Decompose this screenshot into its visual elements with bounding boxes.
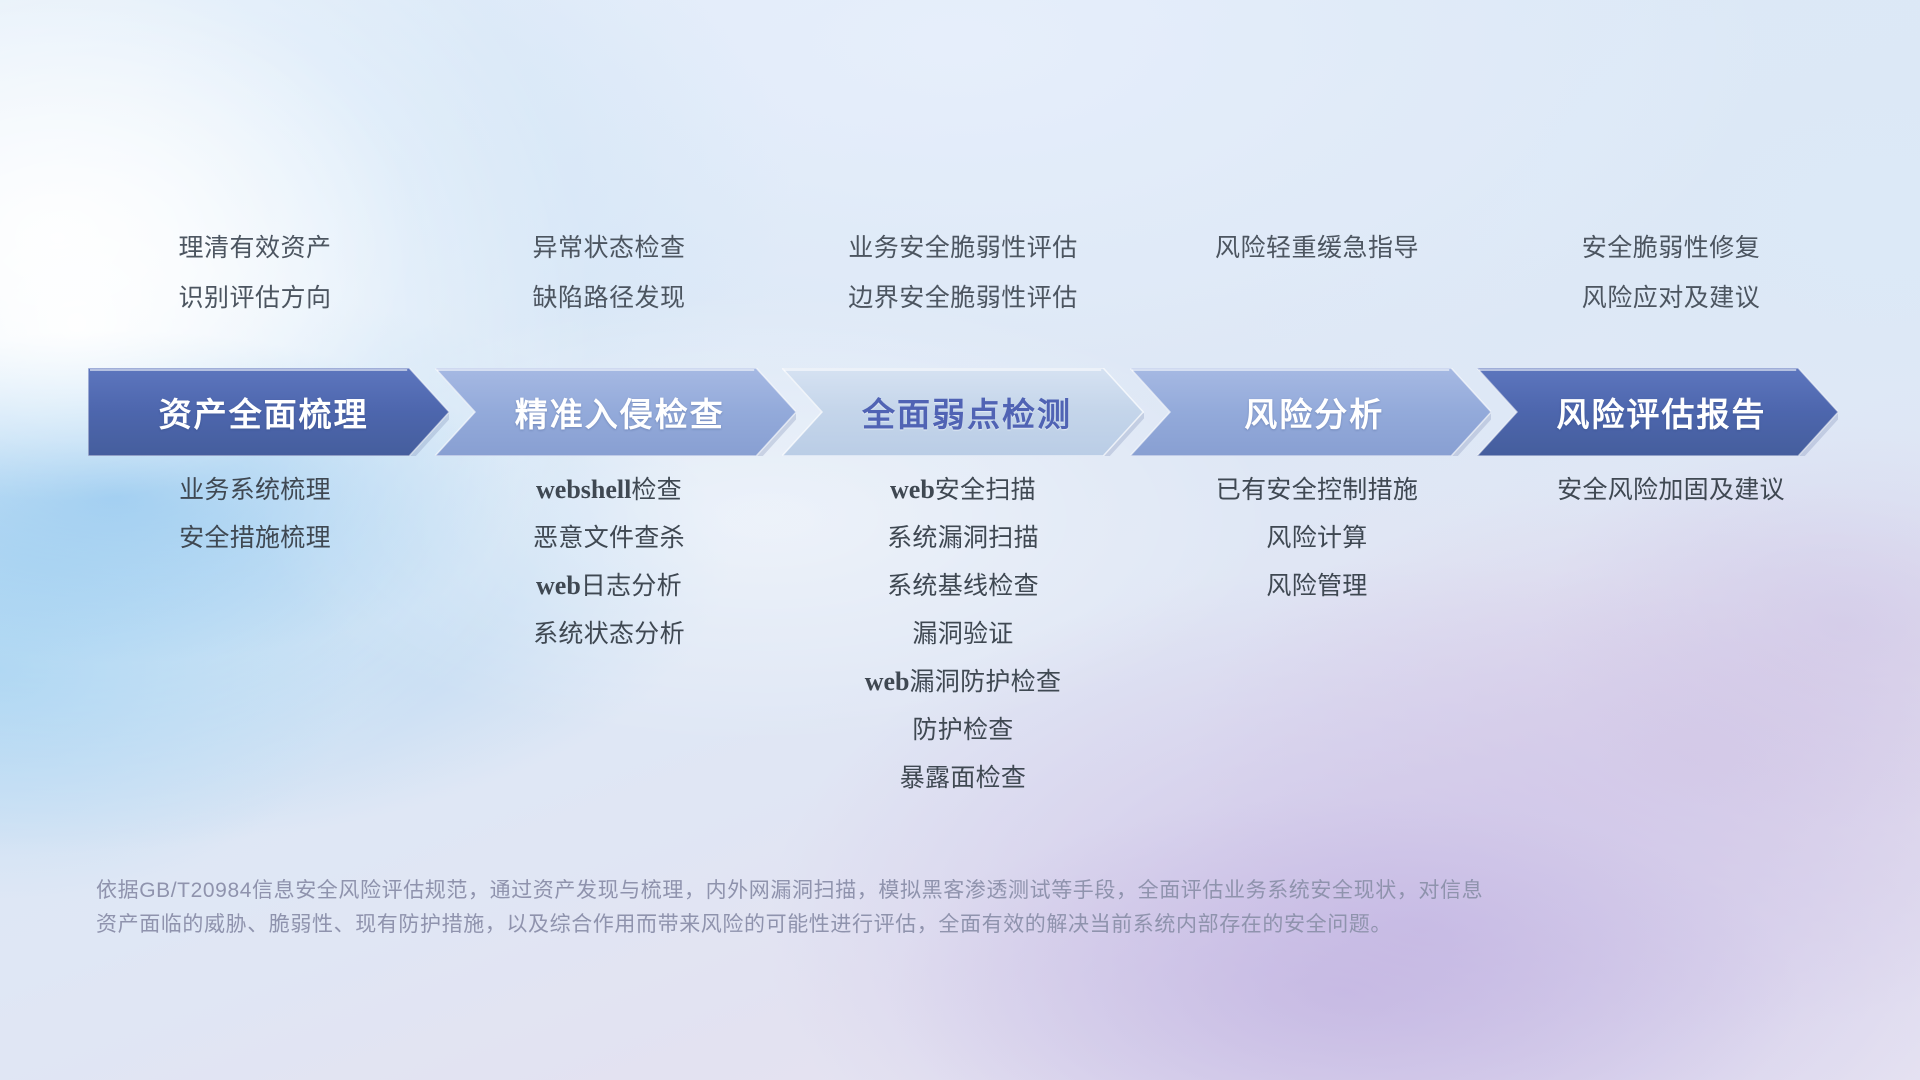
bottom-activities-row: 业务系统梳理安全措施梳理webshell检查恶意文件查杀web日志分析系统状态分… (78, 470, 1848, 794)
activity-term-zh: 暴露面检查 (900, 764, 1027, 792)
activity-term-zh: 风险管理 (1266, 572, 1367, 600)
top-outcome-item: 风险应对及建议 (1582, 278, 1761, 314)
activity-term-zh: 检查 (631, 476, 682, 504)
top-outcome-item: 理清有效资产 (178, 228, 331, 264)
bottom-activity-col-asset-inventory: 业务系统梳理安全措施梳理 (78, 470, 432, 554)
top-outcome-item: 异常状态检查 (532, 228, 685, 264)
top-outcome-item: 安全脆弱性修复 (1582, 228, 1761, 264)
chevron-label: 风险评估报告 (1556, 388, 1766, 436)
chevron-stage-intrusion-check[interactable]: 精准入侵检查 (435, 368, 796, 456)
footer-line-1: 依据GB/T20984信息安全风险评估规范，通过资产发现与梳理，内外网漏洞扫描，… (96, 874, 1616, 908)
bottom-activity-col-weakness-detection: web安全扫描系统漏洞扫描系统基线检查漏洞验证web漏洞防护检查防护检查暴露面检… (786, 470, 1140, 794)
chevron-stage-weakness-detection[interactable]: 全面弱点检测 (782, 368, 1143, 456)
activity-term-en: web (536, 571, 581, 600)
top-outcome-col-weakness-detection: 业务安全脆弱性评估边界安全脆弱性评估 (786, 228, 1140, 314)
process-chevron-band: 资产全面梳理精准入侵检查全面弱点检测风险分析风险评估报告 (88, 368, 1838, 456)
chevron-label: 风险分析 (1244, 388, 1384, 436)
top-outcome-item: 风险轻重缓急指导 (1215, 228, 1419, 264)
activity-term-zh: 防护检查 (912, 716, 1013, 744)
bottom-activity-item: web安全扫描 (890, 470, 1036, 506)
bottom-activity-item: 风险计算 (1266, 518, 1367, 554)
top-outcome-col-intrusion-check: 异常状态检查缺陷路径发现 (432, 228, 786, 314)
bottom-activity-item: 防护检查 (912, 710, 1013, 746)
bottom-activity-col-intrusion-check: webshell检查恶意文件查杀web日志分析系统状态分析 (432, 470, 786, 650)
bottom-activity-item: 系统状态分析 (533, 614, 685, 650)
activity-term-zh: 漏洞验证 (912, 620, 1013, 648)
bottom-activity-col-risk-analysis: 已有安全控制措施风险计算风险管理 (1140, 470, 1494, 602)
activity-term-zh: 安全扫描 (935, 476, 1036, 504)
bottom-activity-item: 暴露面检查 (900, 758, 1027, 794)
top-outcome-item: 缺陷路径发现 (532, 278, 685, 314)
slide-canvas: 理清有效资产识别评估方向异常状态检查缺陷路径发现业务安全脆弱性评估边界安全脆弱性… (0, 0, 1920, 1080)
footer-description: 依据GB/T20984信息安全风险评估规范，通过资产发现与梳理，内外网漏洞扫描，… (96, 874, 1616, 942)
activity-term-zh: 恶意文件查杀 (533, 524, 685, 552)
activity-term-zh: 风险计算 (1266, 524, 1367, 552)
chevron-stage-asset-inventory[interactable]: 资产全面梳理 (88, 368, 449, 456)
bottom-activity-item: 业务系统梳理 (179, 470, 331, 506)
activity-term-zh: 系统状态分析 (533, 620, 685, 648)
chevron-stage-assessment-report[interactable]: 风险评估报告 (1477, 368, 1838, 456)
bottom-activity-item: 安全措施梳理 (179, 518, 331, 554)
top-outcome-col-risk-analysis: 风险轻重缓急指导 (1140, 228, 1494, 314)
chevron-label: 精准入侵检查 (515, 388, 725, 436)
footer-line-2: 资产面临的威胁、脆弱性、现有防护措施，以及综合作用而带来风险的可能性进行评估，全… (96, 908, 1616, 942)
bottom-activity-item: 系统漏洞扫描 (887, 518, 1039, 554)
bottom-activity-item: 系统基线检查 (887, 566, 1039, 602)
bottom-activity-item: 风险管理 (1266, 566, 1367, 602)
activity-term-zh: 业务系统梳理 (179, 476, 331, 504)
bottom-activity-item: web漏洞防护检查 (865, 662, 1062, 698)
top-outcome-item: 识别评估方向 (178, 278, 331, 314)
bottom-activity-item: 已有安全控制措施 (1216, 470, 1418, 506)
bottom-activity-item: 安全风险加固及建议 (1557, 470, 1785, 506)
activity-term-zh: 安全风险加固及建议 (1557, 476, 1785, 504)
activity-term-zh: 已有安全控制措施 (1216, 476, 1418, 504)
chevron-label: 全面弱点检测 (862, 388, 1072, 436)
activity-term-zh: 漏洞防护检查 (909, 668, 1061, 696)
activity-term-zh: 安全措施梳理 (179, 524, 331, 552)
bottom-activity-item: 漏洞验证 (912, 614, 1013, 650)
activity-term-zh: 系统基线检查 (887, 572, 1039, 600)
activity-term-en: web (865, 667, 910, 696)
activity-term-zh: 系统漏洞扫描 (887, 524, 1039, 552)
top-outcome-item: 边界安全脆弱性评估 (848, 278, 1078, 314)
bottom-activity-item: webshell检查 (536, 470, 682, 506)
chevron-stage-risk-analysis[interactable]: 风险分析 (1130, 368, 1491, 456)
bottom-activity-item: 恶意文件查杀 (533, 518, 685, 554)
top-outcome-item: 业务安全脆弱性评估 (848, 228, 1078, 264)
chevron-label: 资产全面梳理 (159, 388, 369, 436)
bottom-activity-item: web日志分析 (536, 566, 682, 602)
top-outcome-col-asset-inventory: 理清有效资产识别评估方向 (78, 228, 432, 314)
top-outcomes-row: 理清有效资产识别评估方向异常状态检查缺陷路径发现业务安全脆弱性评估边界安全脆弱性… (78, 228, 1848, 314)
bottom-activity-col-assessment-report: 安全风险加固及建议 (1494, 470, 1848, 506)
activity-term-en: web (890, 475, 935, 504)
activity-term-zh: 日志分析 (581, 572, 682, 600)
top-outcome-col-assessment-report: 安全脆弱性修复风险应对及建议 (1494, 228, 1848, 314)
activity-term-en: webshell (536, 475, 631, 504)
